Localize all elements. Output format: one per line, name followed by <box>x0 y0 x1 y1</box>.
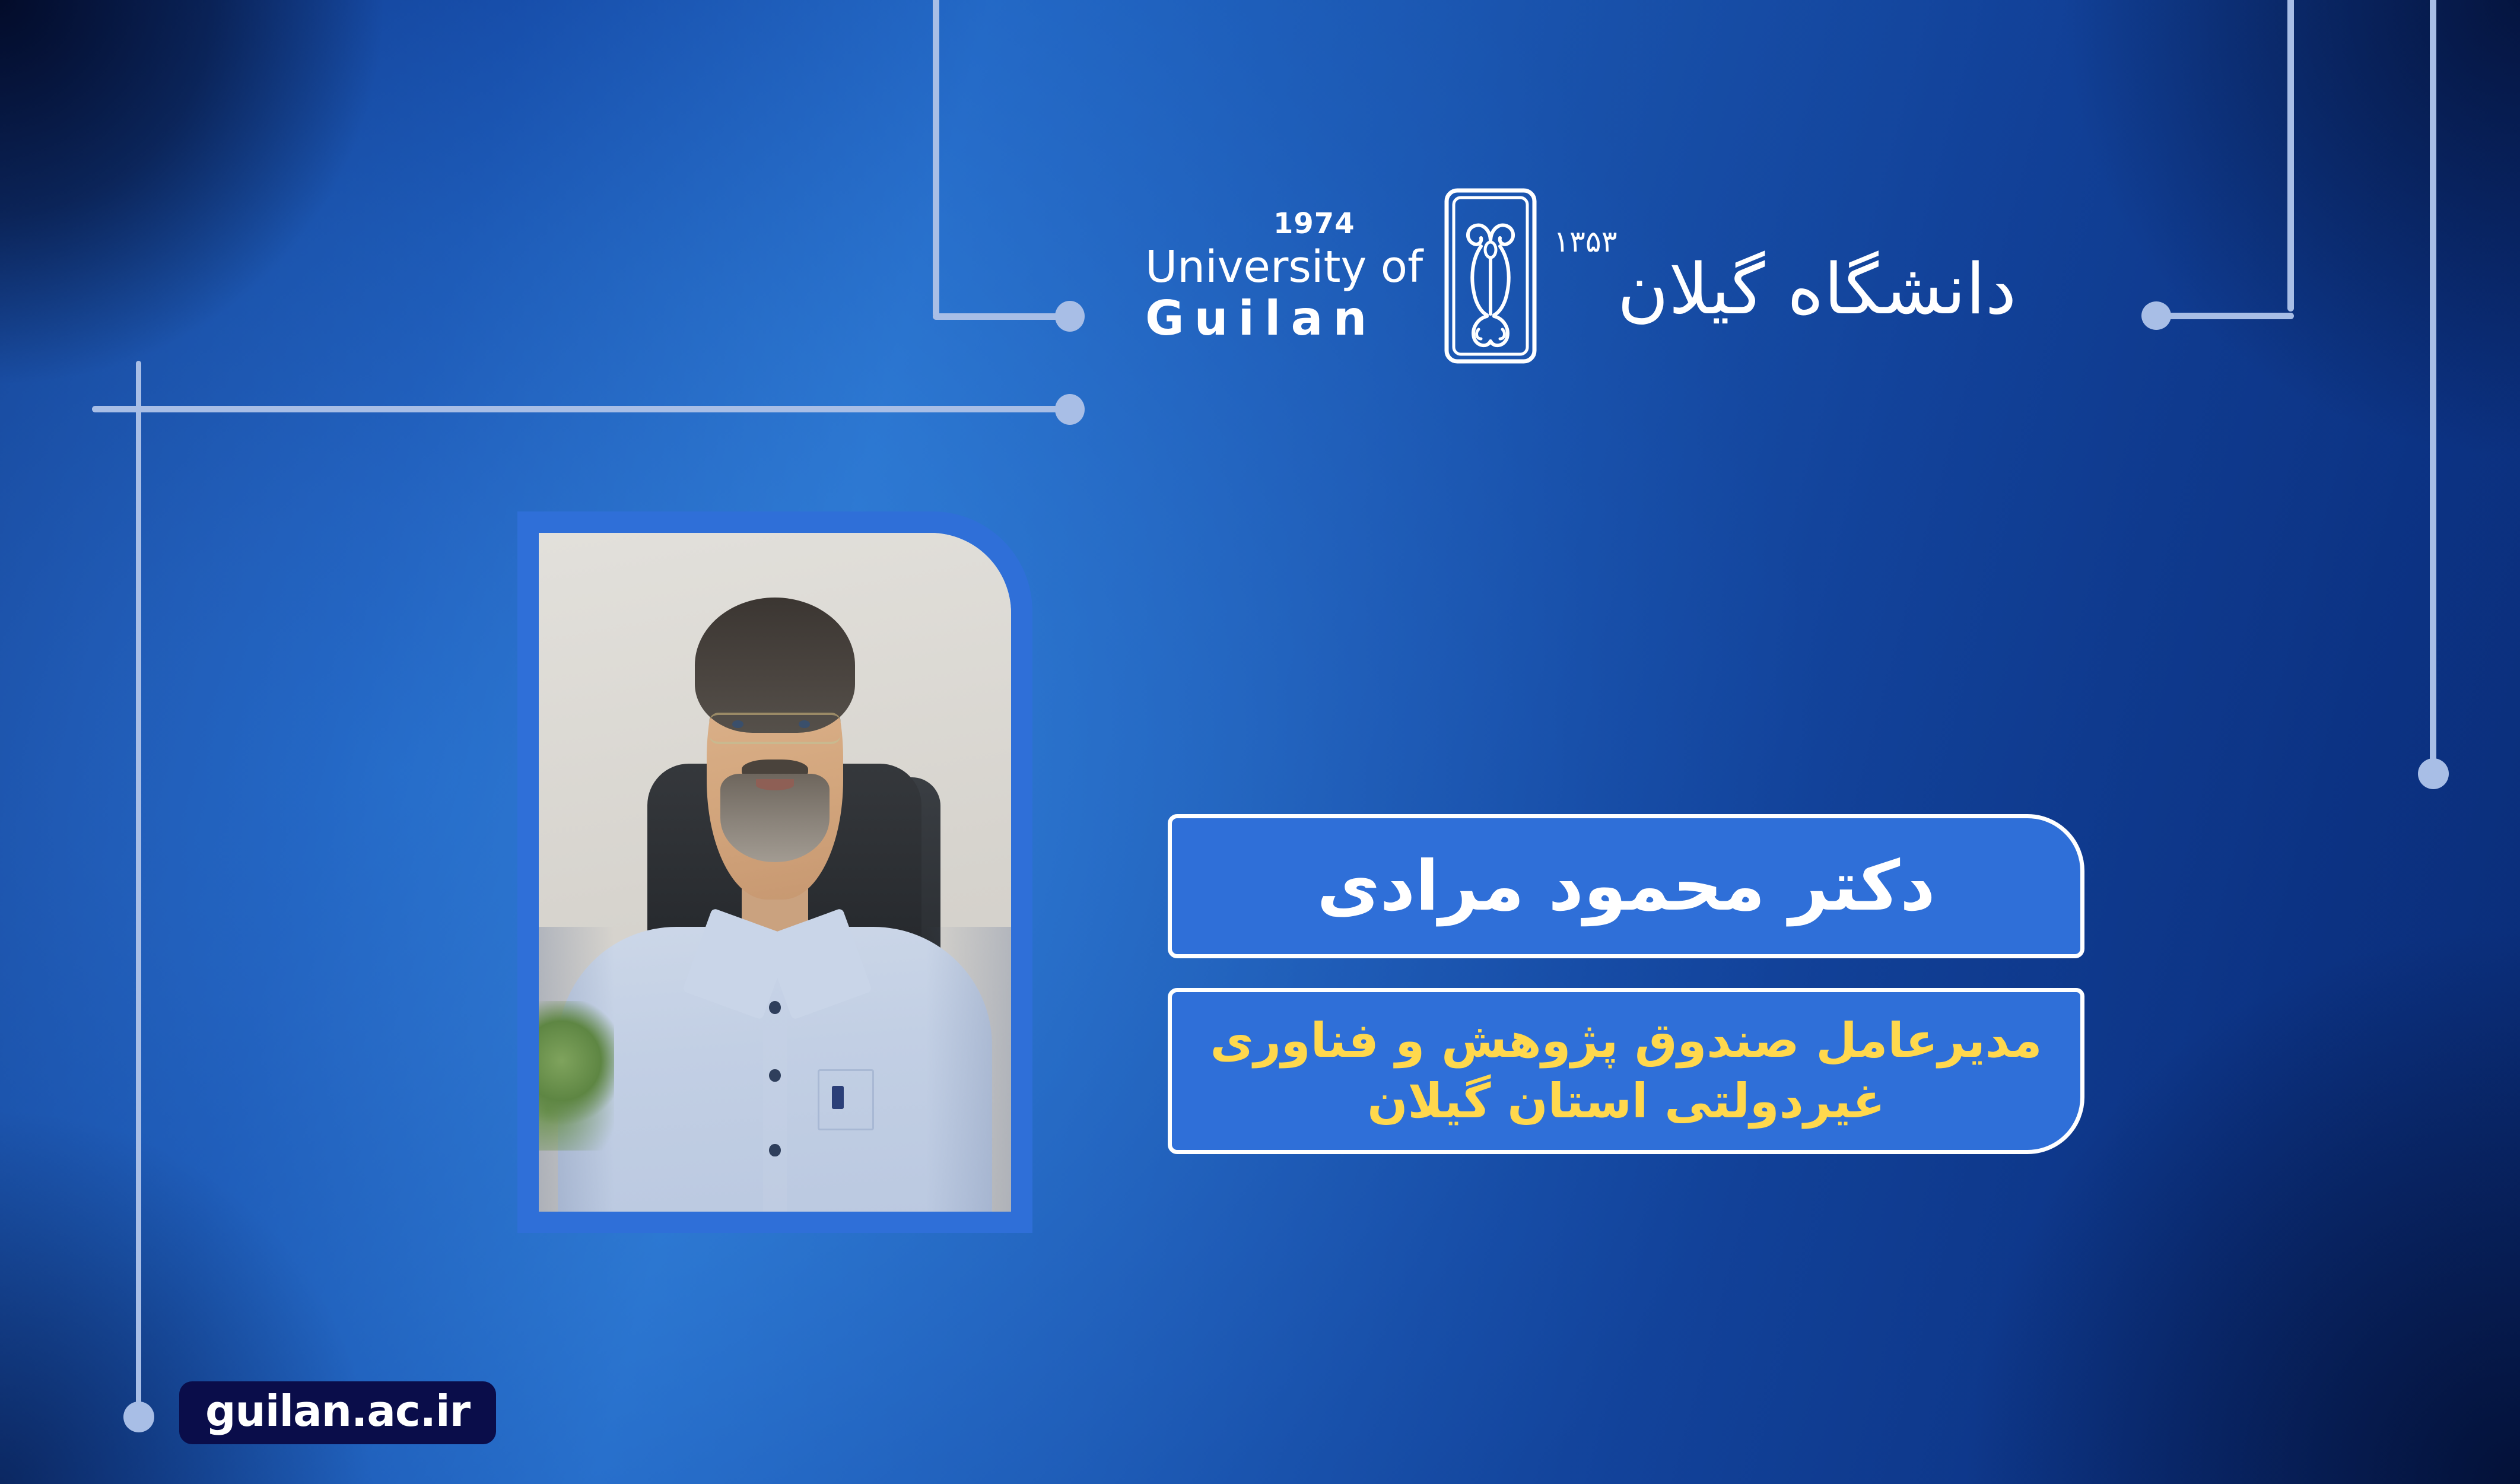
deco-line-right-vertical <box>2287 0 2294 312</box>
deco-dot-far-right <box>2418 758 2449 789</box>
guilan-university-emblem-icon <box>1443 187 1538 365</box>
deco-dot-right <box>2141 301 2171 330</box>
deco-line-right-horizontal <box>2153 313 2294 319</box>
website-badge[interactable]: guilan.ac.ir <box>179 1381 496 1444</box>
person-title-text: مدیرعامل صندوق پژوهش و فناوری غیردولتی ا… <box>1210 1010 2042 1132</box>
website-url-text: guilan.ac.ir <box>205 1386 470 1436</box>
logo-year-gregorian: 1974 <box>1273 209 1355 238</box>
logo-year-persian: ۱۳۵۳ <box>1553 224 1617 259</box>
logo-line-university-of: University of <box>1145 245 1423 289</box>
person-title-line-2: غیردولتی استان گیلان <box>1367 1073 1885 1129</box>
deco-line-top-horizontal <box>933 313 1068 320</box>
poster-canvas: 1974 University of Guilan ۱۳۵۳ دانشگاه گ <box>0 0 2520 1484</box>
logo-line-guilan: Guilan <box>1145 295 1377 342</box>
deco-line-left-vertical <box>136 361 141 1412</box>
person-title-line-1: مدیرعامل صندوق پژوهش و فناوری <box>1210 1013 2042 1068</box>
deco-line-far-right-vertical <box>2430 0 2436 763</box>
deco-line-second-horizontal <box>92 406 1070 412</box>
logo-english-block: 1974 University of Guilan <box>1145 209 1423 342</box>
person-title-banner: مدیرعامل صندوق پژوهش و فناوری غیردولتی ا… <box>1168 988 2084 1154</box>
person-name-banner: دکتر محمود مرادی <box>1168 814 2084 958</box>
deco-dot-second <box>1055 394 1085 425</box>
university-logo: 1974 University of Guilan ۱۳۵۳ دانشگاه گ <box>1145 178 2089 374</box>
deco-dot-bottom-left <box>123 1402 154 1432</box>
deco-line-top-vertical <box>933 0 939 317</box>
portrait-photo <box>539 533 1011 1212</box>
deco-dot-top <box>1055 301 1085 332</box>
portrait-frame <box>517 511 1032 1233</box>
person-name-text: دکتر محمود مرادی <box>1317 849 1935 924</box>
logo-name-persian: دانشگاه گیلان <box>1617 248 2017 330</box>
